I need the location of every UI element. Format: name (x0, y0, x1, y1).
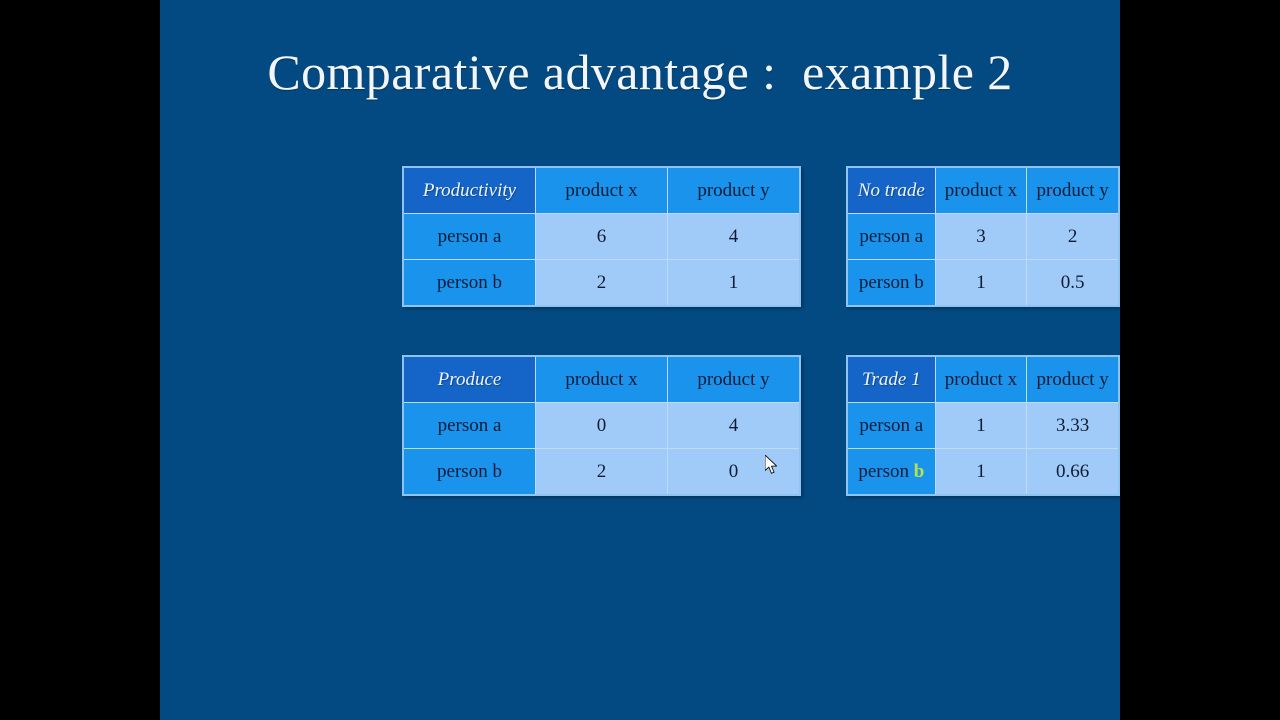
column-header-product-y: product y (668, 168, 799, 214)
row-label-person-a: person a (404, 214, 536, 260)
cell-value: 1 (936, 260, 1028, 305)
table-header-row: No trade product x product y (848, 168, 1118, 214)
row-label-person-a: person a (404, 403, 536, 449)
cell-value: 3 (936, 214, 1028, 260)
cell-value: 1 (936, 403, 1028, 449)
row-label-person-a: person a (848, 214, 936, 260)
table-produce: Produce product x product y person a 0 4… (402, 355, 801, 496)
cell-value: 1 (668, 260, 799, 305)
column-header-product-x: product x (936, 168, 1028, 214)
table-header-row: Produce product x product y (404, 357, 799, 403)
screen: Comparative advantage : example 2 Produc… (0, 0, 1280, 720)
row-label-person-b: person b (404, 449, 536, 494)
cell-value: 2 (536, 449, 668, 494)
table-header-row: Trade 1 product x product y (848, 357, 1118, 403)
column-header-product-y: product y (1027, 168, 1118, 214)
presentation-slide: Comparative advantage : example 2 Produc… (160, 0, 1120, 720)
cell-value: 0 (536, 403, 668, 449)
table-row: person a 6 4 (404, 214, 799, 260)
cell-value: 0.5 (1027, 260, 1118, 305)
table-no-trade: No trade product x product y person a 3 … (846, 166, 1120, 307)
table-row: person b 1 0.5 (848, 260, 1118, 305)
column-header-product-y: product y (1027, 357, 1118, 403)
table-row: person b 1 0.66 (848, 449, 1118, 494)
page-title: Comparative advantage : example 2 (160, 45, 1120, 99)
column-header-product-x: product x (536, 168, 668, 214)
table-corner-label: Trade 1 (848, 357, 936, 403)
table-corner-label: Produce (404, 357, 536, 403)
cell-value: 2 (536, 260, 668, 305)
cell-value: 0.66 (1027, 449, 1118, 494)
row-label-person-a: person a (848, 403, 936, 449)
table-row: person b 2 0 (404, 449, 799, 494)
column-header-product-y: product y (668, 357, 799, 403)
cell-value: 0 (668, 449, 799, 494)
table-corner-label: No trade (848, 168, 936, 214)
table-row: person b 2 1 (404, 260, 799, 305)
table-header-row: Productivity product x product y (404, 168, 799, 214)
cell-value: 2 (1027, 214, 1118, 260)
table-productivity: Productivity product x product y person … (402, 166, 801, 307)
cell-value: 1 (936, 449, 1028, 494)
row-label-person-b-highlighted: person b (848, 449, 936, 494)
table-row: person a 0 4 (404, 403, 799, 449)
cell-value: 4 (668, 403, 799, 449)
cell-value: 6 (536, 214, 668, 260)
row-label-text: person (858, 461, 913, 482)
cell-value: 4 (668, 214, 799, 260)
cell-value: 3.33 (1027, 403, 1118, 449)
column-header-product-x: product x (536, 357, 668, 403)
row-label-person-b: person b (404, 260, 536, 305)
table-row: person a 1 3.33 (848, 403, 1118, 449)
row-label-highlighted-letter: b (914, 461, 925, 482)
row-label-person-b: person b (848, 260, 936, 305)
column-header-product-x: product x (936, 357, 1028, 403)
table-trade-1: Trade 1 product x product y person a 1 3… (846, 355, 1120, 496)
table-row: person a 3 2 (848, 214, 1118, 260)
table-corner-label: Productivity (404, 168, 536, 214)
